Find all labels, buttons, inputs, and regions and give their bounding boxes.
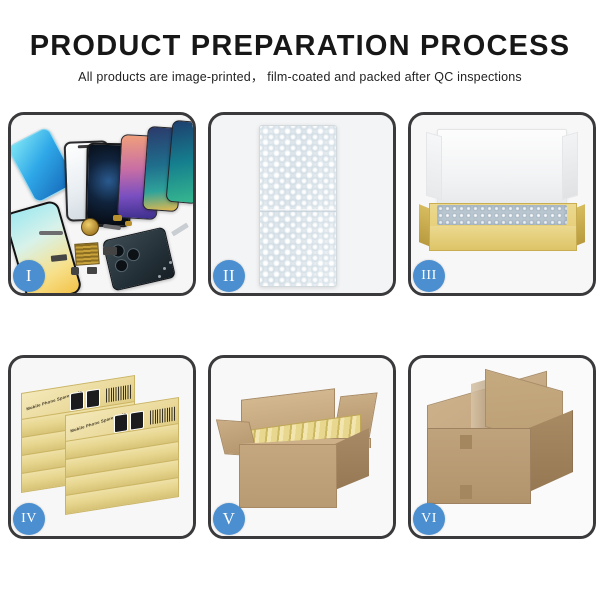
step-badge-4: IV	[13, 503, 45, 535]
page-title: PRODUCT PREPARATION PROCESS	[0, 30, 600, 63]
bubble-wrapped-product	[259, 125, 337, 287]
step-panel-4: Mobile Phone Spare Parts Mobile Phone Sp…	[8, 355, 196, 539]
sealed-carton-front-face	[427, 428, 531, 504]
step-badge-3: III	[413, 260, 445, 292]
carton-hand-hole	[460, 485, 472, 499]
box-barcode	[106, 384, 132, 402]
carton-hand-hole	[460, 435, 472, 449]
step-4-image: Mobile Phone Spare Parts Mobile Phone Sp…	[11, 358, 193, 536]
step-panel-3: III	[408, 112, 596, 296]
step-5-image: V	[211, 358, 393, 536]
screw-part	[163, 267, 166, 270]
step-badge-2: II	[213, 260, 245, 292]
box-barcode	[150, 406, 176, 424]
bubble-wrapped-contents	[437, 205, 567, 225]
gold-contact-part	[125, 221, 132, 226]
step-panel-1: I	[8, 112, 196, 296]
step-panel-5: V	[208, 355, 396, 539]
step-2-image: II	[211, 115, 393, 293]
vibration-motor-part	[81, 218, 99, 236]
carton-front-face	[239, 444, 337, 508]
step-panel-2: II	[208, 112, 396, 296]
small-component-part	[103, 247, 117, 255]
phone-graphic	[86, 389, 100, 409]
bubble-wrap-seam	[260, 209, 336, 212]
flex-cable-part	[39, 231, 63, 235]
step-1-image: I	[11, 115, 193, 293]
page-subtitle: All products are image-printed， film-coa…	[0, 66, 600, 85]
step-badge-1: I	[13, 260, 45, 292]
step-6-image: VI	[411, 358, 593, 536]
bubble-highlight-texture	[260, 126, 336, 286]
product-preparation-infographic: PRODUCT PREPARATION PROCESS All products…	[0, 0, 600, 600]
screw-part	[169, 261, 172, 264]
step-badge-6: VI	[413, 503, 445, 535]
yellow-box-front-face	[430, 226, 576, 250]
screw-part	[158, 275, 161, 278]
step-3-image: III	[411, 115, 593, 293]
camera-lens-icon	[114, 258, 130, 274]
gold-contact-part	[113, 215, 122, 221]
small-component-part	[71, 267, 79, 275]
camera-lens-icon	[126, 247, 142, 263]
connector-chip-part	[74, 242, 99, 266]
step-badge-5: V	[213, 503, 245, 535]
white-box-lid	[437, 129, 567, 209]
phone-graphic	[130, 411, 144, 431]
small-component-part	[87, 267, 97, 274]
step-panel-6: VI	[408, 355, 596, 539]
